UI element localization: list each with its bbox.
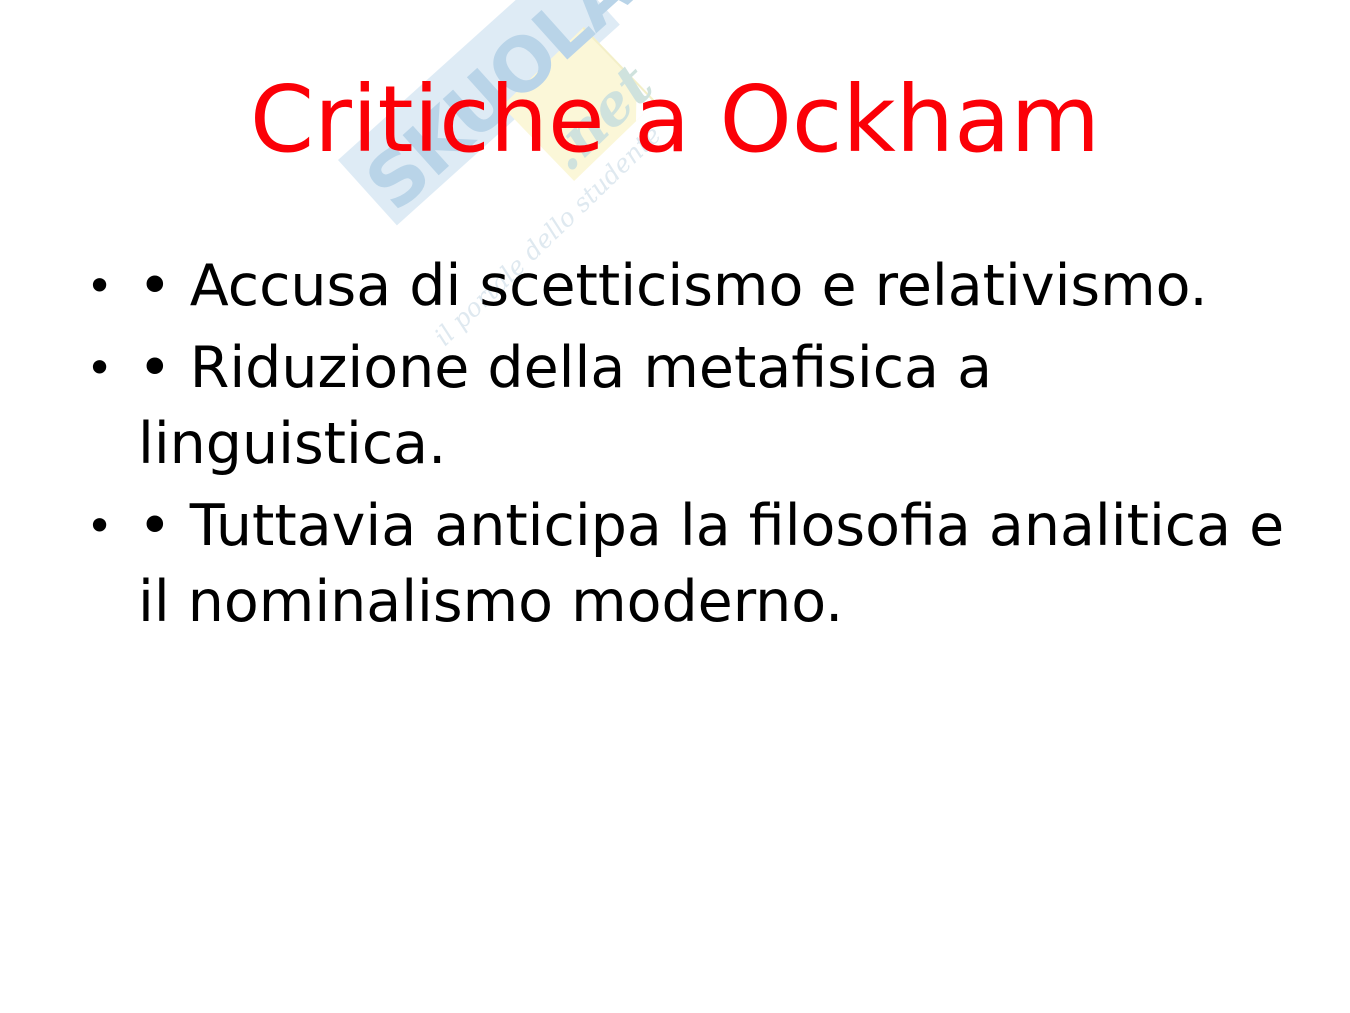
list-item-text: • Accusa di scetticismo e relativismo. bbox=[138, 248, 1302, 324]
list-item: • • Tuttavia anticipa la filosofia anali… bbox=[72, 488, 1302, 640]
slide-title: Critiche a Ockham bbox=[0, 72, 1350, 169]
presentation-slide: SKUOLA .net il portale dello studente Cr… bbox=[0, 0, 1350, 1013]
list-item: • • Accusa di scetticismo e relativismo. bbox=[72, 248, 1302, 324]
list-item: • • Riduzione della metafisica a linguis… bbox=[72, 330, 1302, 482]
list-item-text: • Tuttavia anticipa la filosofia analiti… bbox=[138, 488, 1302, 640]
bullet-marker-icon: • bbox=[86, 330, 116, 406]
bullet-marker-icon: • bbox=[86, 248, 116, 324]
bullet-list: • • Accusa di scetticismo e relativismo.… bbox=[72, 248, 1302, 646]
bullet-marker-icon: • bbox=[86, 488, 116, 564]
list-item-text: • Riduzione della metafisica a linguisti… bbox=[138, 330, 1302, 482]
